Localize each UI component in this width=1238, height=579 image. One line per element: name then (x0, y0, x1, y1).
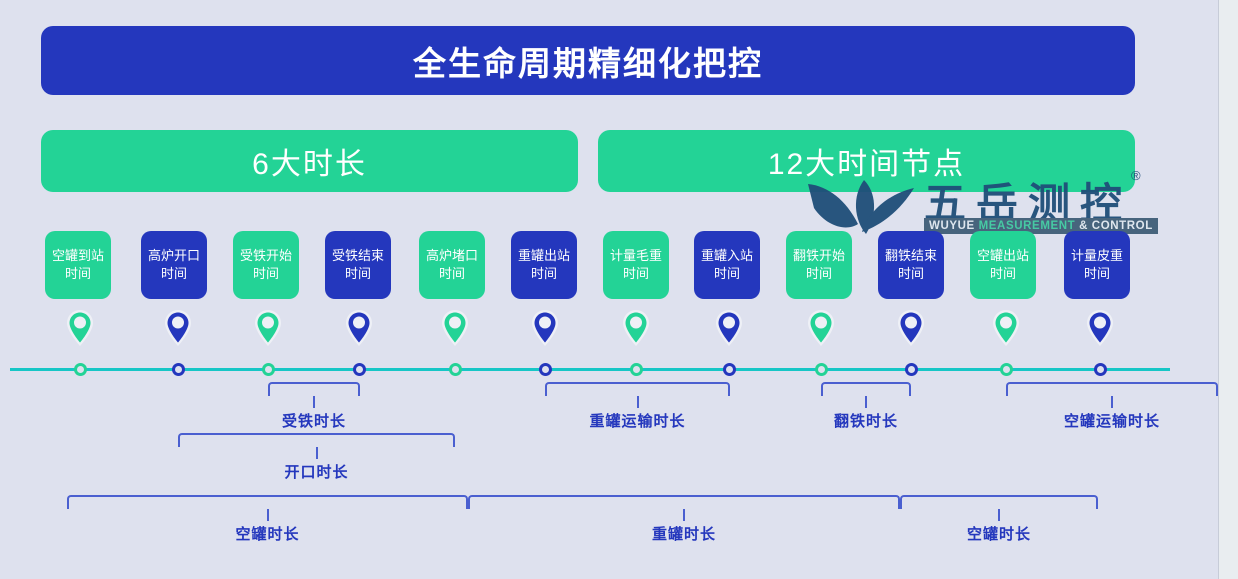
map-pin-icon (440, 308, 470, 348)
timeline-node-dot[interactable] (815, 363, 828, 376)
bracket-stem (865, 396, 867, 408)
map-pin-icon (163, 308, 193, 348)
watermark-en-prefix: WUYUE (929, 220, 979, 232)
time-node-box[interactable]: 计量毛重时间 (603, 231, 669, 299)
duration-bracket-label: 空罐时长 (967, 523, 1031, 544)
duration-bracket-label: 重罐时长 (652, 523, 716, 544)
timeline-node-dot[interactable] (353, 363, 366, 376)
timeline-node-dot[interactable] (630, 363, 643, 376)
time-node-box[interactable]: 高炉堵口时间 (419, 231, 485, 299)
map-pin-icon (344, 308, 374, 348)
time-node-box[interactable]: 计量皮重时间 (1064, 231, 1130, 299)
page-title: 全生命周期精细化把控 (413, 37, 763, 85)
section-header-durations-label: 6大时长 (252, 139, 367, 183)
timeline-node-dot[interactable] (172, 363, 185, 376)
duration-bracket-label: 空罐时长 (235, 523, 299, 544)
slide-title-banner: 全生命周期精细化把控 (41, 26, 1135, 95)
duration-bracket-label: 空罐运输时长 (1064, 410, 1160, 431)
timeline-node-dot[interactable] (723, 363, 736, 376)
map-pin-icon (253, 308, 283, 348)
duration-bracket (1006, 382, 1218, 396)
map-pin-icon (714, 308, 744, 348)
time-node-label: 高炉开口时间 (146, 247, 202, 283)
time-node-box[interactable]: 受铁结束时间 (325, 231, 391, 299)
time-node-box[interactable]: 空罐出站时间 (970, 231, 1036, 299)
duration-bracket (178, 433, 455, 447)
bracket-stem (316, 447, 318, 459)
bracket-stem (267, 509, 269, 521)
duration-bracket-label: 翻铁时长 (834, 410, 898, 431)
time-node-label: 受铁结束时间 (330, 247, 386, 283)
time-node-box[interactable]: 翻铁结束时间 (878, 231, 944, 299)
timeline-node-dot[interactable] (74, 363, 87, 376)
duration-bracket (268, 382, 360, 396)
duration-bracket (900, 495, 1098, 509)
time-node-label: 重罐入站时间 (699, 247, 755, 283)
time-node-box[interactable]: 高炉开口时间 (141, 231, 207, 299)
bracket-stem (313, 396, 315, 408)
time-node-box[interactable]: 重罐入站时间 (694, 231, 760, 299)
map-pin-icon (530, 308, 560, 348)
time-node-label: 重罐出站时间 (516, 247, 572, 283)
bracket-stem (637, 396, 639, 408)
slide-canvas: 全生命周期精细化把控 6大时长 12大时间节点 五岳测控 ® WUYUE MEA… (0, 0, 1219, 579)
duration-bracket-label: 受铁时长 (282, 410, 346, 431)
map-pin-icon (896, 308, 926, 348)
timeline-node-dot[interactable] (262, 363, 275, 376)
timeline-node-dot[interactable] (539, 363, 552, 376)
time-node-box[interactable]: 翻铁开始时间 (786, 231, 852, 299)
duration-bracket (821, 382, 911, 396)
time-node-label: 翻铁结束时间 (883, 247, 939, 283)
time-node-label: 翻铁开始时间 (791, 247, 847, 283)
map-pin-icon (621, 308, 651, 348)
duration-bracket-label: 重罐运输时长 (589, 410, 685, 431)
map-pin-icon (65, 308, 95, 348)
duration-bracket (468, 495, 900, 509)
time-node-label: 受铁开始时间 (238, 247, 294, 283)
duration-bracket-label: 开口时长 (284, 461, 348, 482)
section-header-durations: 6大时长 (41, 130, 578, 192)
bracket-stem (1111, 396, 1113, 408)
timeline-node-dot[interactable] (905, 363, 918, 376)
timeline-node-dot[interactable] (1094, 363, 1107, 376)
duration-bracket (545, 382, 730, 396)
map-pin-icon (806, 308, 836, 348)
time-node-label: 计量毛重时间 (608, 247, 664, 283)
map-pin-icon (1085, 308, 1115, 348)
time-node-box[interactable]: 受铁开始时间 (233, 231, 299, 299)
timeline-node-dot[interactable] (1000, 363, 1013, 376)
time-node-label: 空罐出站时间 (975, 247, 1031, 283)
map-pin-icon (991, 308, 1021, 348)
time-node-box[interactable]: 重罐出站时间 (511, 231, 577, 299)
duration-bracket (67, 495, 468, 509)
time-node-label: 空罐到站时间 (50, 247, 106, 283)
bracket-stem (998, 509, 1000, 521)
section-header-time-nodes-label: 12大时间节点 (768, 139, 965, 183)
time-node-box[interactable]: 空罐到站时间 (45, 231, 111, 299)
timeline-node-dot[interactable] (449, 363, 462, 376)
bracket-stem (683, 509, 685, 521)
time-node-label: 计量皮重时间 (1069, 247, 1125, 283)
time-node-label: 高炉堵口时间 (424, 247, 480, 283)
section-header-time-nodes: 12大时间节点 (598, 130, 1135, 192)
